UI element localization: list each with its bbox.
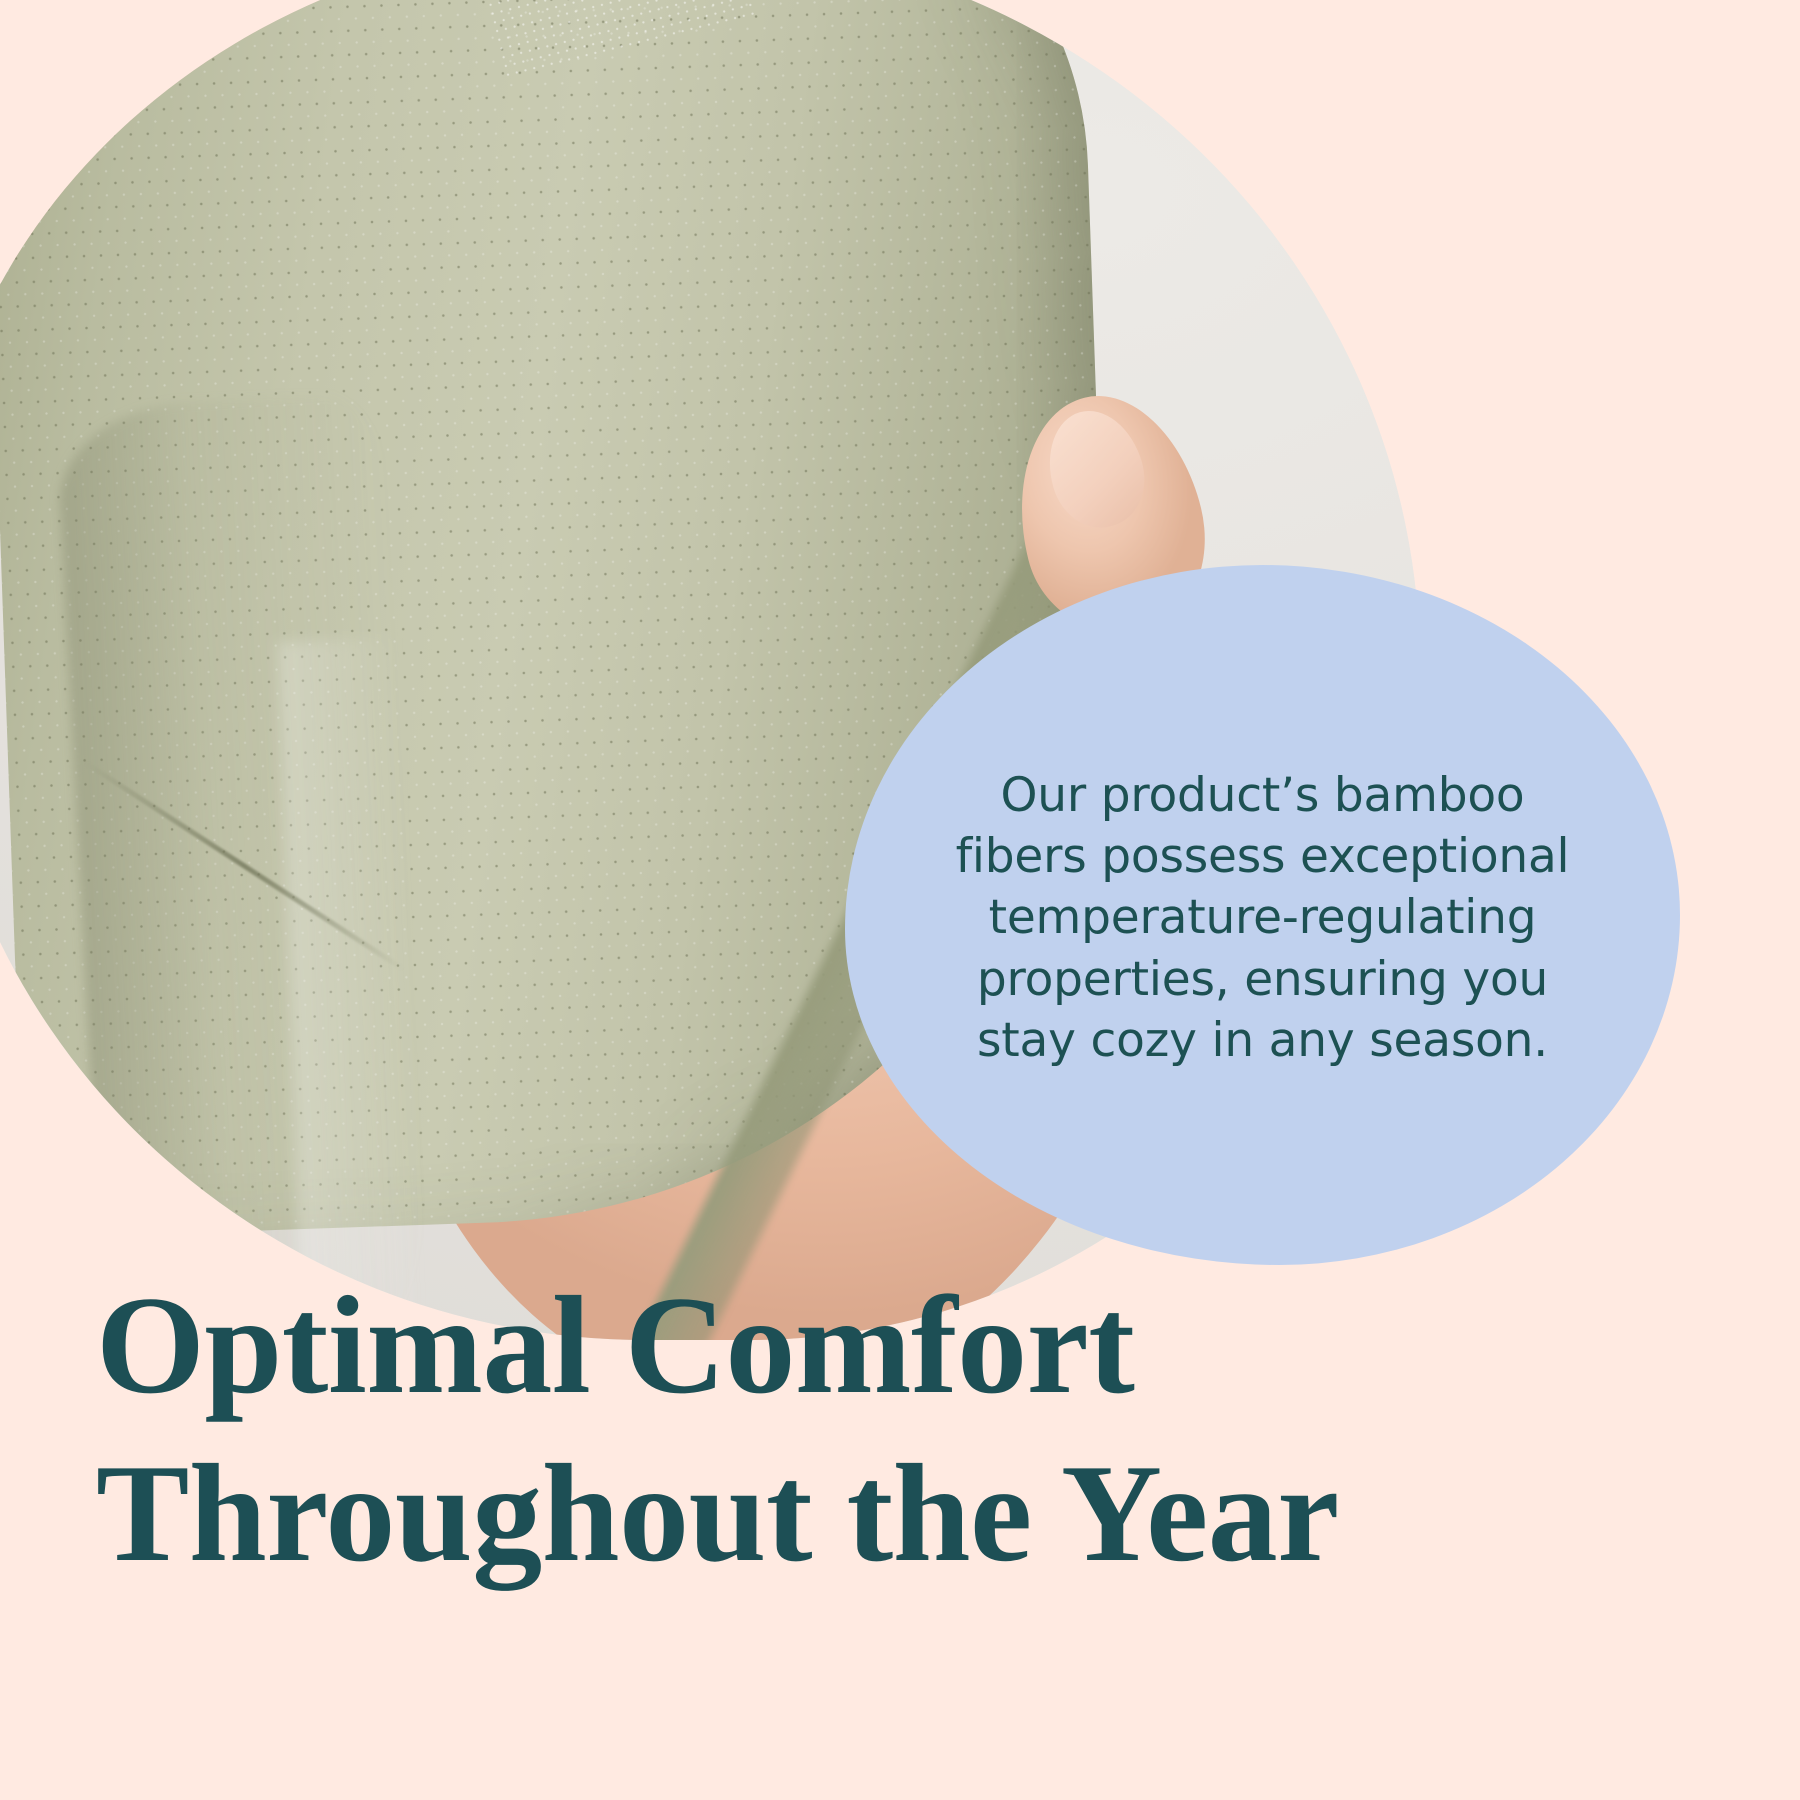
page-title-line-1: Optimal Comfort bbox=[96, 1262, 1496, 1430]
page-title-line-2: Throughout the Year bbox=[96, 1430, 1496, 1598]
callout-blob: Our product’s bamboo fibers possess exce… bbox=[845, 565, 1680, 1265]
page-title: Optimal Comfort Throughout the Year bbox=[96, 1262, 1496, 1598]
fabric-fold-highlight bbox=[278, 638, 422, 1340]
callout-body-text: Our product’s bamboo fibers possess exce… bbox=[933, 765, 1593, 1070]
poster-canvas: Our product’s bamboo fibers possess exce… bbox=[0, 0, 1800, 1800]
